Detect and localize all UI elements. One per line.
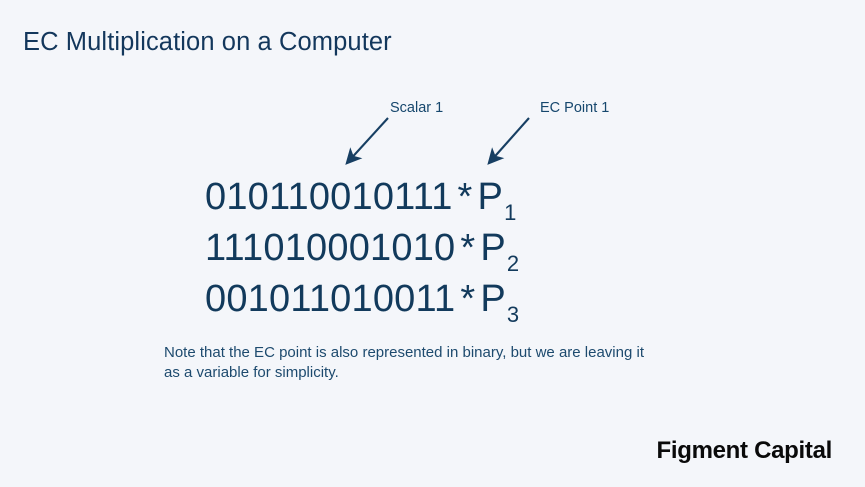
arrow-ec-point-icon [489,118,529,163]
equation-list: 010110010111*P1 111010001010*P2 00101101… [205,172,625,325]
equation-row: 010110010111*P1 [205,172,625,223]
footnote-text: Note that the EC point is also represent… [164,343,654,382]
arrow-scalar-icon [347,118,388,163]
brand-logo: Figment Capital [656,437,832,465]
multiply-operator: * [455,278,480,320]
annotation-label-scalar: Scalar 1 [390,100,443,116]
scalar-bits: 111010001010 [205,227,455,269]
equation-row: 111010001010*P2 [205,223,625,274]
scalar-bits: 001011010011 [205,278,455,320]
ec-point-subscript: 1 [504,200,516,225]
ec-point-subscript: 3 [507,302,519,327]
ec-point-subscript: 2 [507,251,519,276]
annotation-label-ec-point: EC Point 1 [540,100,609,116]
ec-point-symbol: P [480,278,506,320]
scalar-bits: 010110010111 [205,176,453,218]
ec-point-symbol: P [478,176,504,218]
slide-canvas: EC Multiplication on a Computer Scalar 1… [0,0,865,487]
multiply-operator: * [453,176,478,218]
equation-row: 001011010011*P3 [205,274,625,325]
ec-point-symbol: P [480,227,506,269]
page-title: EC Multiplication on a Computer [23,28,392,57]
multiply-operator: * [455,227,480,269]
